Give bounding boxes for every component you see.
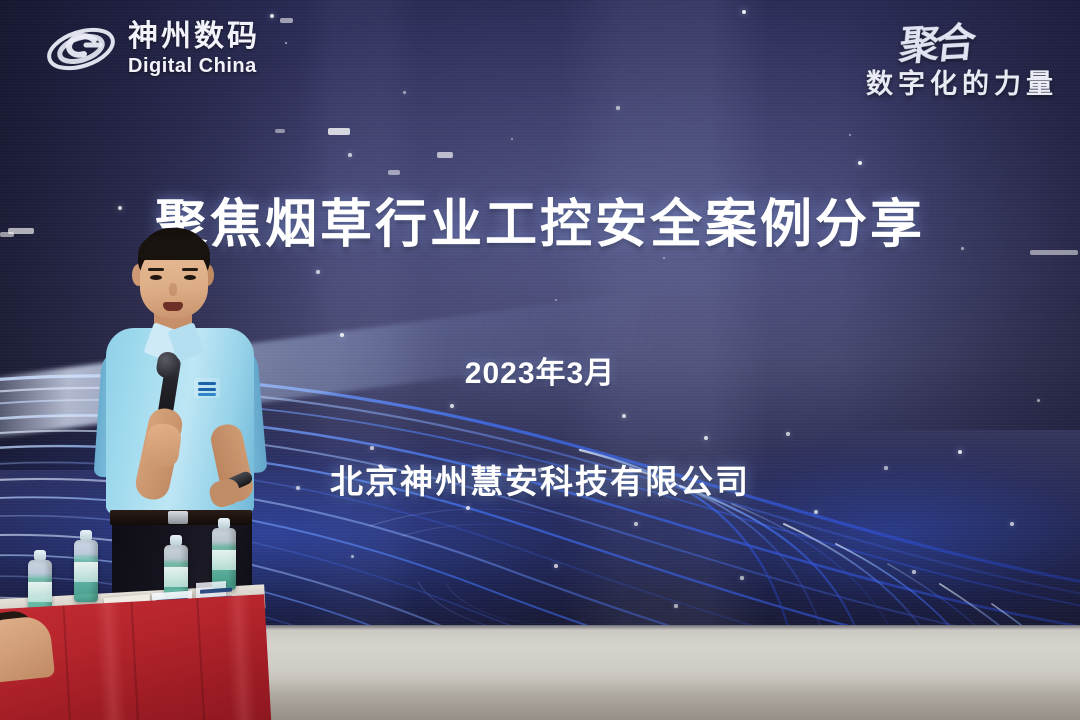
- speaker-eyebrow-left: [148, 268, 164, 271]
- light-particle: [348, 153, 352, 157]
- cloth-highlight: [94, 602, 127, 720]
- speaker-hair-fringe: [138, 236, 210, 260]
- speaker-eyebrow-right: [182, 268, 198, 271]
- speaker-mouth: [163, 302, 183, 311]
- light-particle: [270, 14, 274, 18]
- light-streak: [280, 18, 293, 23]
- light-particle: [403, 91, 406, 94]
- speaker-belt-buckle: [168, 511, 188, 524]
- light-streak: [328, 128, 350, 135]
- cloth-fold: [62, 605, 71, 720]
- conference-stage-photo: 聚焦烟草行业工控安全案例分享 2023年3月 北京神州慧安科技有限公司 神州数码…: [0, 0, 1080, 720]
- light-particle: [316, 270, 319, 273]
- light-particle: [555, 299, 558, 302]
- speaker-eye-left: [150, 275, 162, 280]
- light-particle: [616, 106, 619, 109]
- cloth-fold: [196, 598, 205, 720]
- light-particle: [285, 42, 288, 45]
- digital-china-logo: 神州数码 Digital China: [44, 18, 260, 80]
- speaker-nose: [169, 283, 177, 296]
- cloth-fold: [130, 602, 139, 720]
- digital-china-swirl-icon: [44, 18, 118, 80]
- polo-chest-logo-icon: [194, 378, 220, 398]
- event-theme-logo: 聚合 数字化的力量: [866, 12, 1058, 101]
- light-particle: [742, 10, 746, 14]
- light-particle: [849, 134, 852, 137]
- cloth-highlight: [224, 595, 257, 720]
- light-particle: [511, 138, 514, 141]
- brand-name-english: Digital China: [128, 56, 260, 76]
- light-streak: [388, 170, 400, 175]
- light-particle: [663, 257, 666, 260]
- theme-calligraphy: 聚合: [897, 10, 976, 72]
- light-streak: [437, 152, 453, 158]
- light-streak: [275, 129, 285, 133]
- light-particle: [858, 161, 862, 165]
- speaker-eye-right: [184, 275, 196, 280]
- digital-china-logo-text: 神州数码 Digital China: [128, 22, 260, 76]
- brand-name-chinese: 神州数码: [128, 22, 260, 52]
- water-bottle: [74, 540, 98, 602]
